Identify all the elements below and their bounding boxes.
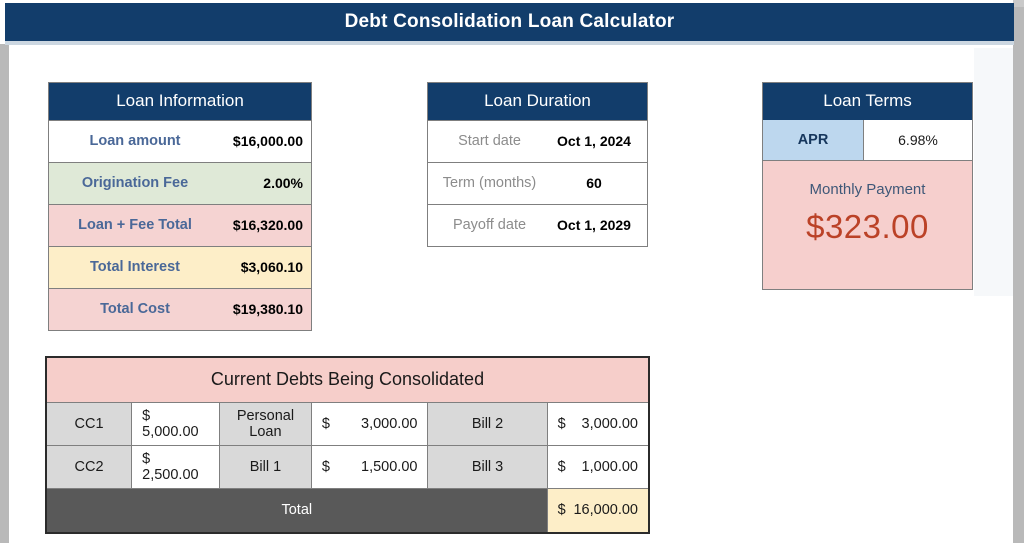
debt-name-bill-2: Bill 2 <box>428 402 547 445</box>
currency-symbol: $ <box>558 459 566 475</box>
label-debts-total: Total <box>46 488 547 533</box>
current-debts-table: Current Debts Being Consolidated CC1 $ 5… <box>45 356 650 534</box>
monthly-payment-block: Monthly Payment $323.00 <box>763 160 972 289</box>
label-loan-fee-total: Loan + Fee Total <box>49 217 207 233</box>
row-apr[interactable]: APR 6.98% <box>763 120 972 160</box>
currency-symbol: $ <box>558 416 566 432</box>
row-start-date[interactable]: Start date Oct 1, 2024 <box>428 120 647 162</box>
debt-name-bill-3: Bill 3 <box>428 445 547 488</box>
window-left-border <box>0 44 9 543</box>
table-row[interactable]: CC2 $ 2,500.00 Bill 1 $ 1,500.00 Bill 3 … <box>46 445 649 488</box>
row-payoff-date[interactable]: Payoff date Oct 1, 2029 <box>428 204 647 246</box>
loan-duration-card: Loan Duration Start date Oct 1, 2024 Ter… <box>427 82 648 247</box>
debt-name-bill-1: Bill 1 <box>220 445 312 488</box>
debt-name-cc2: CC2 <box>46 445 132 488</box>
row-total-interest[interactable]: Total Interest $3,060.10 <box>49 246 311 288</box>
debt-amount-bill-2: $ 3,000.00 <box>547 402 649 445</box>
label-monthly-payment: Monthly Payment <box>810 181 926 198</box>
debt-amount-cc2: $ 2,500.00 <box>132 445 220 488</box>
page-title: Debt Consolidation Loan Calculator <box>345 11 675 33</box>
row-loan-amount[interactable]: Loan amount $16,000.00 <box>49 120 311 162</box>
amount-number: 3,000.00 <box>558 416 638 432</box>
table-row[interactable]: CC1 $ 5,000.00 Personal Loan $ 3,000.00 … <box>46 402 649 445</box>
value-origination-fee: 2.00% <box>207 175 311 191</box>
debt-amount-personal-loan: $ 3,000.00 <box>311 402 428 445</box>
value-loan-fee-total: $16,320.00 <box>207 217 311 233</box>
debts-total-row: Total $ 16,000.00 <box>46 488 649 533</box>
debts-title: Current Debts Being Consolidated <box>46 357 649 402</box>
label-payoff-date: Payoff date <box>428 217 547 233</box>
currency-symbol: $ <box>322 416 330 432</box>
debt-amount-cc1: $ 5,000.00 <box>132 402 220 445</box>
debt-amount-bill-1: $ 1,500.00 <box>311 445 428 488</box>
debt-name-cc1: CC1 <box>46 402 132 445</box>
label-total-interest: Total Interest <box>49 259 207 275</box>
app-window: Debt Consolidation Loan Calculator Loan … <box>0 0 1024 543</box>
window-corner <box>1013 0 1024 7</box>
debt-amount-bill-3: $ 1,000.00 <box>547 445 649 488</box>
loan-information-card: Loan Information Loan amount $16,000.00 … <box>48 82 312 331</box>
value-total-interest: $3,060.10 <box>207 259 311 275</box>
debts-title-row: Current Debts Being Consolidated <box>46 357 649 402</box>
amount-number: 1,500.00 <box>322 459 418 475</box>
title-bar-underline <box>5 41 1014 45</box>
row-origination-fee[interactable]: Origination Fee 2.00% <box>49 162 311 204</box>
label-origination-fee: Origination Fee <box>49 175 207 191</box>
amount-number: 3,000.00 <box>322 416 418 432</box>
loan-information-heading: Loan Information <box>49 83 311 120</box>
value-monthly-payment: $323.00 <box>806 208 929 246</box>
label-term-months: Term (months) <box>428 175 547 191</box>
row-total-cost[interactable]: Total Cost $19,380.10 <box>49 288 311 330</box>
window-right-border <box>1013 0 1024 543</box>
currency-symbol: $ <box>558 502 566 518</box>
debt-name-personal-loan: Personal Loan <box>220 402 312 445</box>
value-term-months: 60 <box>547 175 647 191</box>
value-start-date: Oct 1, 2024 <box>547 133 647 149</box>
value-payoff-date: Oct 1, 2029 <box>547 217 647 233</box>
currency-symbol: $ <box>322 459 330 475</box>
value-debts-total: $ 16,000.00 <box>547 488 649 533</box>
amount-number: 16,000.00 <box>558 502 638 518</box>
title-bar: Debt Consolidation Loan Calculator <box>5 3 1014 41</box>
loan-duration-heading: Loan Duration <box>428 83 647 120</box>
value-loan-amount: $16,000.00 <box>207 133 311 149</box>
row-loan-fee-total[interactable]: Loan + Fee Total $16,320.00 <box>49 204 311 246</box>
amount-number: 1,000.00 <box>558 459 638 475</box>
label-start-date: Start date <box>428 133 547 149</box>
label-loan-amount: Loan amount <box>49 133 207 149</box>
loan-terms-card: Loan Terms APR 6.98% Monthly Payment $32… <box>762 82 973 290</box>
row-term-months[interactable]: Term (months) 60 <box>428 162 647 204</box>
right-background-panel <box>974 48 1013 296</box>
label-total-cost: Total Cost <box>49 301 207 317</box>
loan-terms-heading: Loan Terms <box>763 83 972 120</box>
value-total-cost: $19,380.10 <box>207 301 311 317</box>
value-apr: 6.98% <box>864 120 972 160</box>
label-apr: APR <box>763 120 864 160</box>
